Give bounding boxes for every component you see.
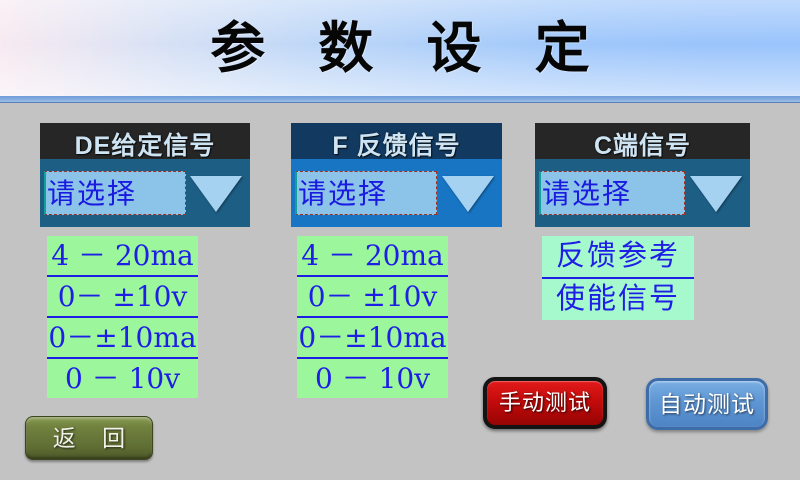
select-value-c: 请选择 bbox=[541, 173, 684, 215]
select-row-de: 请选择 bbox=[40, 171, 250, 219]
panel-title-c: C端信号 bbox=[535, 129, 750, 163]
option-list-f: 4 － 20ma 0－ ±10v 0－±10ma 0 － 10v bbox=[297, 236, 448, 398]
chevron-down-icon[interactable] bbox=[190, 176, 242, 212]
select-value-f: 请选择 bbox=[297, 173, 436, 215]
header-divider bbox=[0, 96, 800, 103]
select-row-c: 请选择 bbox=[535, 171, 750, 219]
select-de[interactable]: 请选择 bbox=[44, 171, 186, 215]
option-list-de: 4 － 20ma 0－ ±10v 0－±10ma 0 － 10v bbox=[47, 236, 198, 398]
select-c[interactable]: 请选择 bbox=[539, 171, 685, 215]
select-f[interactable]: 请选择 bbox=[295, 171, 437, 215]
chevron-down-icon[interactable] bbox=[442, 176, 494, 212]
panel-title-f: F 反馈信号 bbox=[291, 129, 502, 163]
auto-test-button[interactable]: 自动测试 bbox=[646, 378, 768, 430]
signal-column-c: C端信号 请选择 反馈参考 使能信号 bbox=[535, 123, 750, 227]
list-item[interactable]: 0 － 10v bbox=[297, 359, 448, 398]
select-row-f: 请选择 bbox=[291, 171, 502, 219]
list-item[interactable]: 4 － 20ma bbox=[297, 236, 448, 277]
list-item[interactable]: 0－±10ma bbox=[47, 318, 198, 359]
signal-column-f: F 反馈信号 请选择 4 － 20ma 0－ ±10v 0－±10ma 0 － … bbox=[291, 123, 502, 227]
panel-f: F 反馈信号 请选择 bbox=[291, 123, 502, 227]
list-item[interactable]: 0－ ±10v bbox=[297, 277, 448, 318]
list-item[interactable]: 4 － 20ma bbox=[47, 236, 198, 277]
panel-de: DE给定信号 请选择 bbox=[40, 123, 250, 227]
select-value-de: 请选择 bbox=[46, 173, 185, 215]
panel-title-de: DE给定信号 bbox=[40, 129, 250, 163]
chevron-down-icon[interactable] bbox=[690, 176, 742, 212]
page-title: 参 数 设 定 bbox=[0, 13, 800, 83]
back-button[interactable]: 返 回 bbox=[25, 416, 153, 460]
signal-column-de: DE给定信号 请选择 4 － 20ma 0－ ±10v 0－±10ma 0 － … bbox=[40, 123, 250, 227]
list-item[interactable]: 反馈参考 bbox=[542, 236, 694, 279]
list-item[interactable]: 0－ ±10v bbox=[47, 277, 198, 318]
panel-c: C端信号 请选择 bbox=[535, 123, 750, 227]
list-item[interactable]: 0 － 10v bbox=[47, 359, 198, 398]
list-item[interactable]: 0－±10ma bbox=[297, 318, 448, 359]
option-list-c: 反馈参考 使能信号 bbox=[542, 236, 694, 320]
manual-test-button[interactable]: 手动测试 bbox=[483, 377, 607, 429]
list-item[interactable]: 使能信号 bbox=[542, 279, 694, 320]
